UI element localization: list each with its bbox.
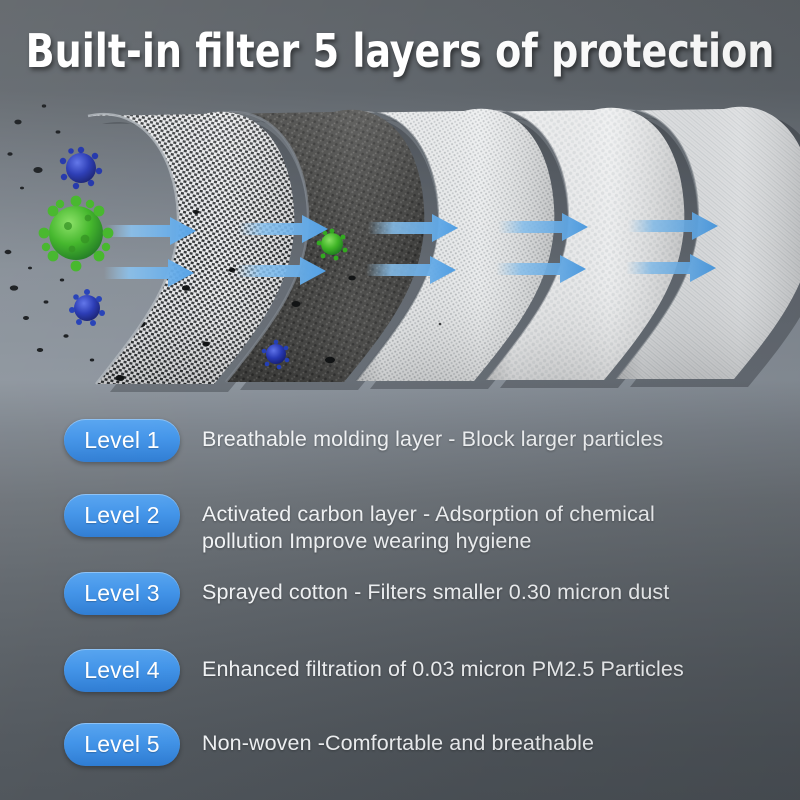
level-description-5-line1: Non-woven -Comfortable and breathable (202, 731, 594, 755)
level-badge-1[interactable]: Level 1 (64, 419, 180, 462)
virus-blue-small (69, 289, 105, 326)
level-description-2-line2: pollution Improve wearing hygiene (202, 528, 800, 555)
level-description-4-line1: Enhanced filtration of 0.03 micron PM2.5… (202, 657, 684, 681)
level-description-1: Breathable molding layer - Block larger … (202, 419, 800, 453)
level-badge-3[interactable]: Level 3 (64, 572, 180, 615)
airborne-particles (5, 104, 114, 361)
virus-green-small (126, 166, 159, 200)
level-description-3: Sprayed cotton - Filters smaller 0.30 mi… (202, 572, 800, 606)
level-description-2: Activated carbon layer - Adsorption of c… (202, 494, 800, 555)
level-row-5[interactable]: Level 5 Non-woven -Comfortable and breat… (0, 723, 800, 766)
title-band: Built-in filter 5 layers of protection (0, 0, 800, 92)
level-row-2[interactable]: Level 2 Activated carbon layer - Adsorpt… (0, 494, 800, 555)
level-row-4[interactable]: Level 4 Enhanced filtration of 0.03 micr… (0, 649, 800, 692)
level-description-4: Enhanced filtration of 0.03 micron PM2.5… (202, 649, 800, 683)
level-row-3[interactable]: Level 3 Sprayed cotton - Filters smaller… (0, 572, 800, 615)
level-badge-5[interactable]: Level 5 (64, 723, 180, 766)
level-row-1[interactable]: Level 1 Breathable molding layer - Block… (0, 419, 800, 462)
level-description-5: Non-woven -Comfortable and breathable (202, 723, 800, 757)
virus-green-large (39, 196, 114, 272)
level-description-3-line1: Sprayed cotton - Filters smaller 0.30 mi… (202, 580, 669, 604)
level-description-1-line1: Breathable molding layer - Block larger … (202, 427, 663, 451)
level-badge-2[interactable]: Level 2 (64, 494, 180, 537)
level-description-2-line1: Activated carbon layer - Adsorption of c… (202, 502, 655, 526)
filter-layers-illustration (0, 92, 800, 397)
level-badge-4[interactable]: Level 4 (64, 649, 180, 692)
levels-list: Level 1 Breathable molding layer - Block… (0, 404, 800, 800)
page-title: Built-in filter 5 layers of protection (26, 24, 775, 78)
virus-blue-large (60, 147, 102, 189)
infographic-page: Built-in filter 5 layers of protection (0, 0, 800, 800)
